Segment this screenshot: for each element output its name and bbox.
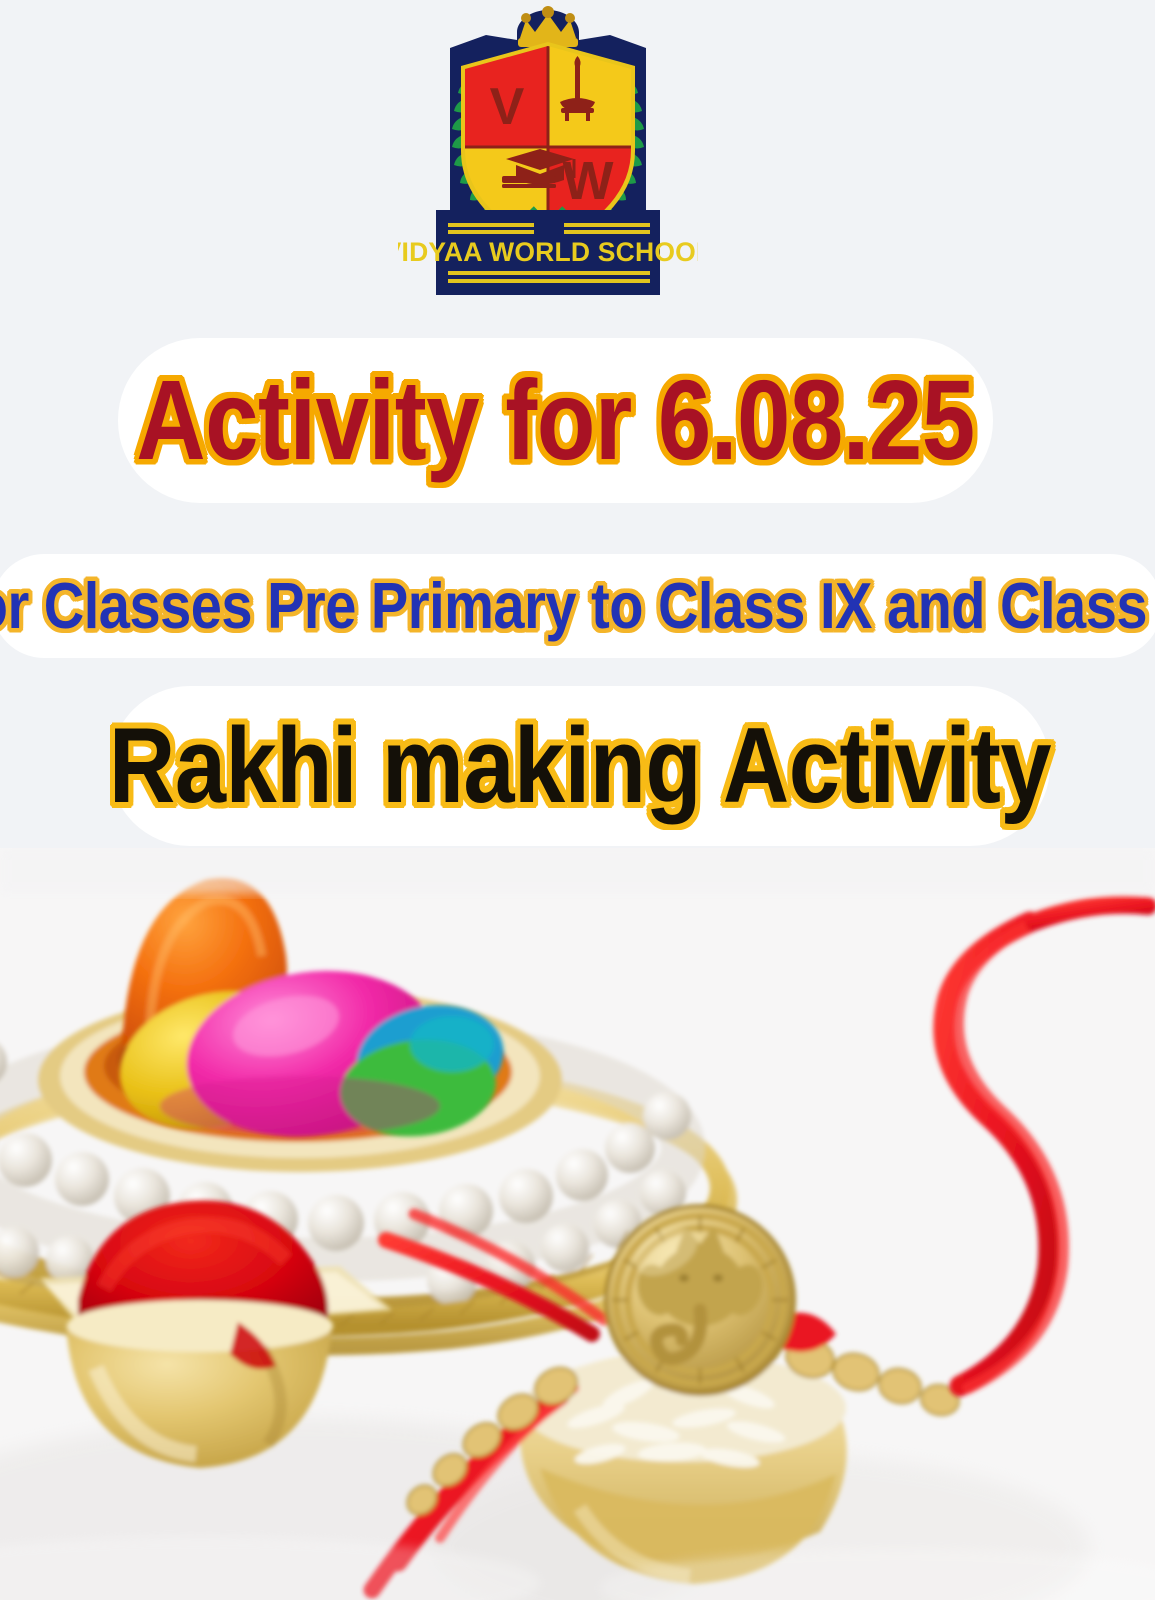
- page-title: Activity for 6.08.25: [136, 364, 974, 477]
- poster-root: V W: [0, 0, 1155, 1600]
- crest-letter-v: V: [490, 78, 525, 136]
- activity-panel: Rakhi making Activity: [110, 686, 1050, 846]
- activity-name-label: Rakhi making Activity: [109, 713, 1051, 820]
- subtitle-panel: For Classes Pre Primary to Class IX and …: [0, 554, 1155, 658]
- class-range-label: For Classes Pre Primary to Class IX and …: [0, 574, 1155, 639]
- school-crest-icon: V W: [398, 2, 698, 302]
- title-panel: Activity for 6.08.25: [118, 338, 993, 503]
- rakhi-pooja-thali-photo: [0, 848, 1155, 1600]
- logo-banner-text: VIDYAA WORLD SCHOOL: [398, 237, 698, 267]
- school-logo: V W: [398, 2, 698, 302]
- crest-letter-w: W: [563, 151, 614, 211]
- rakhi-photo-illustration: [0, 848, 1155, 1600]
